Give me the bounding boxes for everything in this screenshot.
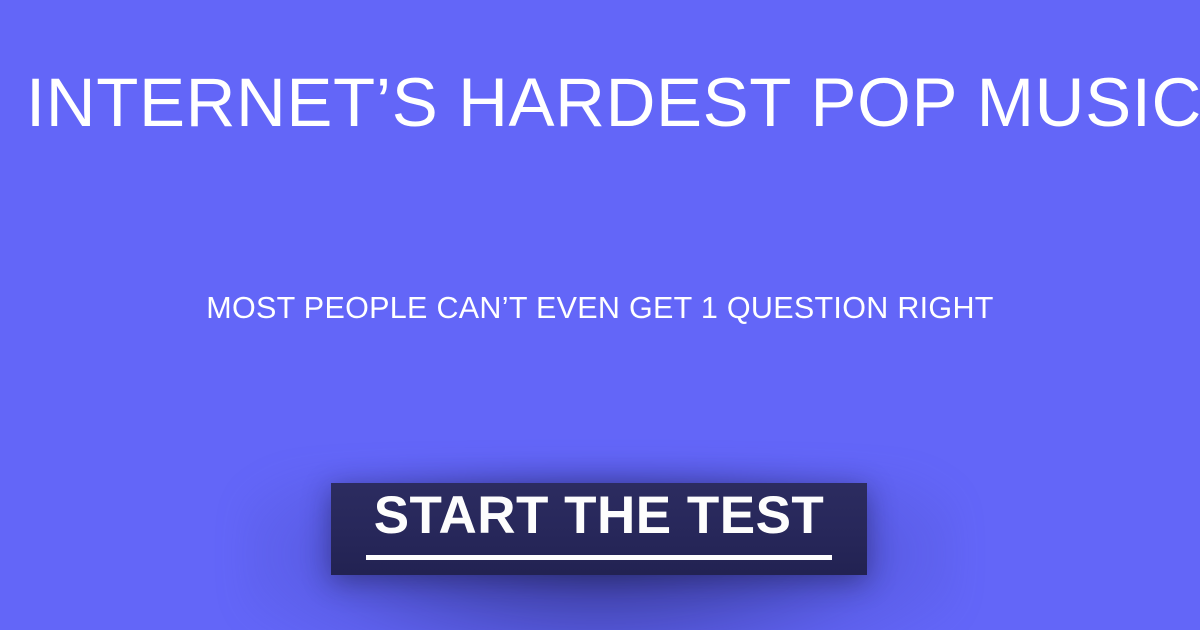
start-the-test-button-label: START THE TEST bbox=[374, 489, 825, 542]
start-the-test-button[interactable]: START THE TEST bbox=[331, 483, 867, 575]
button-underline bbox=[366, 555, 832, 560]
page-subtitle: MOST PEOPLE CAN’T EVEN GET 1 QUESTION RI… bbox=[0, 293, 1200, 324]
page-title: INTERNET’S HARDEST POP MUSIC QUIZ bbox=[26, 68, 1176, 137]
quiz-promo-card: INTERNET’S HARDEST POP MUSIC QUIZ MOST P… bbox=[0, 0, 1200, 630]
